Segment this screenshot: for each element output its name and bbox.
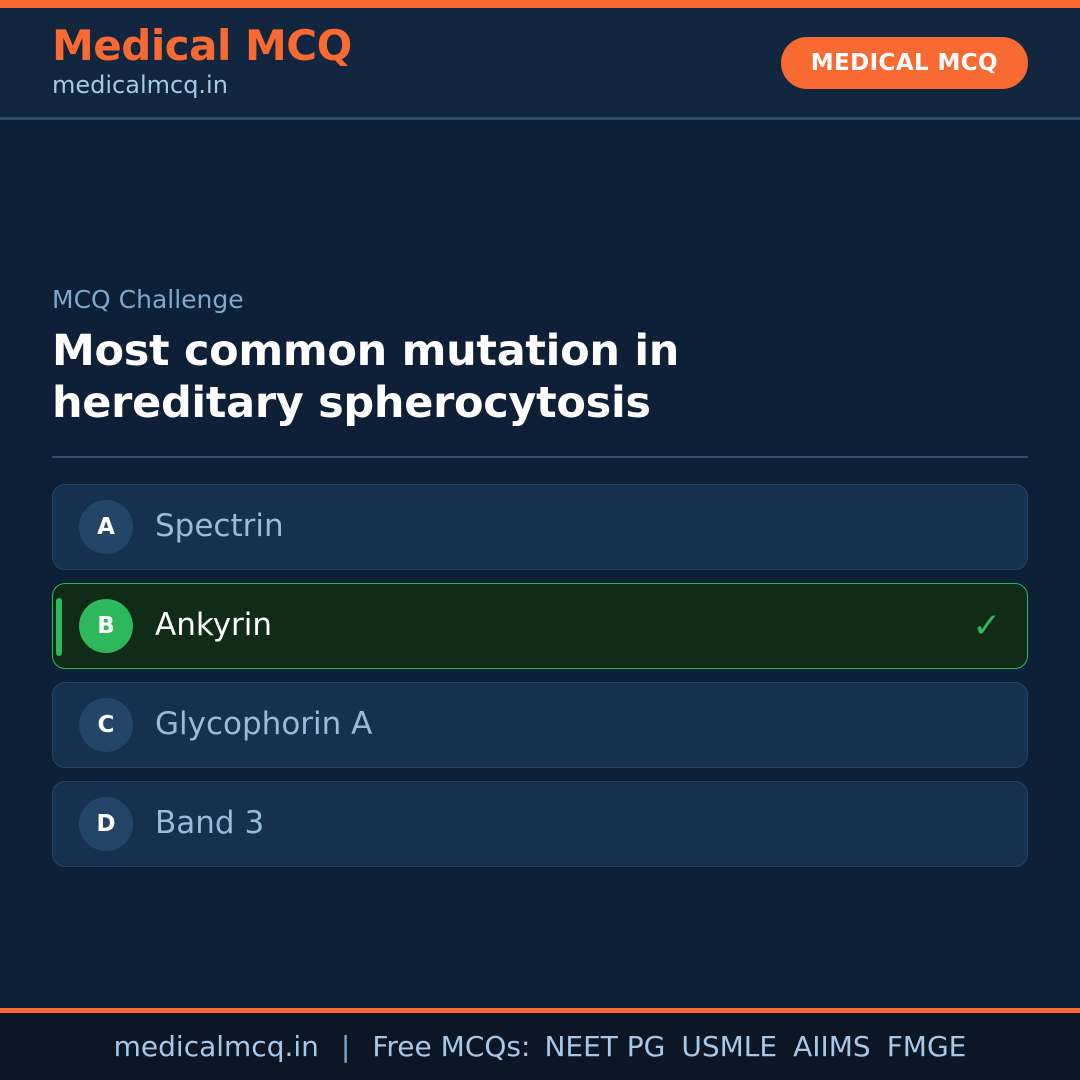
option-label-c: Glycophorin A bbox=[155, 709, 372, 740]
page-footer: medicalmcq.in | Free MCQs: NEET PG USMLE… bbox=[0, 1008, 1080, 1080]
question-divider bbox=[52, 456, 1028, 458]
brand-subtitle: medicalmcq.in bbox=[52, 70, 352, 101]
brand-title: Medical MCQ bbox=[52, 24, 352, 68]
brand-badge: MEDICAL MCQ bbox=[781, 37, 1028, 89]
question-block: MCQ Challenge Most common mutation in he… bbox=[52, 120, 1028, 430]
footer-site-link[interactable]: medicalmcq.in bbox=[114, 1030, 319, 1063]
question-text: Most common mutation in hereditary spher… bbox=[52, 325, 842, 430]
option-label-a: Spectrin bbox=[155, 511, 284, 542]
option-label-d: Band 3 bbox=[155, 808, 264, 839]
top-accent-bar bbox=[0, 0, 1080, 8]
brand-block: Medical MCQ medicalmcq.in bbox=[52, 24, 352, 101]
options-list: A Spectrin ✓ B Ankyrin ✓ C Glycophorin A… bbox=[52, 484, 1028, 867]
question-kicker: MCQ Challenge bbox=[52, 285, 1028, 315]
main-content: MCQ Challenge Most common mutation in he… bbox=[0, 120, 1080, 1008]
option-row-b[interactable]: B Ankyrin ✓ bbox=[52, 583, 1028, 669]
footer-exam-neetpg[interactable]: NEET PG bbox=[544, 1030, 665, 1063]
footer-exam-aiims[interactable]: AIIMS bbox=[793, 1030, 871, 1063]
footer-lead-text: Free MCQs: bbox=[372, 1030, 530, 1063]
option-letter-a: A bbox=[79, 500, 133, 554]
footer-text: medicalmcq.in | Free MCQs: NEET PG USMLE… bbox=[114, 1030, 967, 1063]
option-letter-b: B bbox=[79, 599, 133, 653]
check-icon: ✓ bbox=[973, 606, 1002, 646]
option-letter-c: C bbox=[79, 698, 133, 752]
page-header: Medical MCQ medicalmcq.in MEDICAL MCQ bbox=[0, 8, 1080, 120]
option-label-b: Ankyrin bbox=[155, 610, 272, 641]
option-row-a[interactable]: A Spectrin ✓ bbox=[52, 484, 1028, 570]
footer-separator: | bbox=[341, 1030, 350, 1063]
footer-exam-usmle[interactable]: USMLE bbox=[681, 1030, 777, 1063]
footer-exam-fmge[interactable]: FMGE bbox=[887, 1030, 967, 1063]
option-row-d[interactable]: D Band 3 ✓ bbox=[52, 781, 1028, 867]
option-row-c[interactable]: C Glycophorin A ✓ bbox=[52, 682, 1028, 768]
option-letter-d: D bbox=[79, 797, 133, 851]
